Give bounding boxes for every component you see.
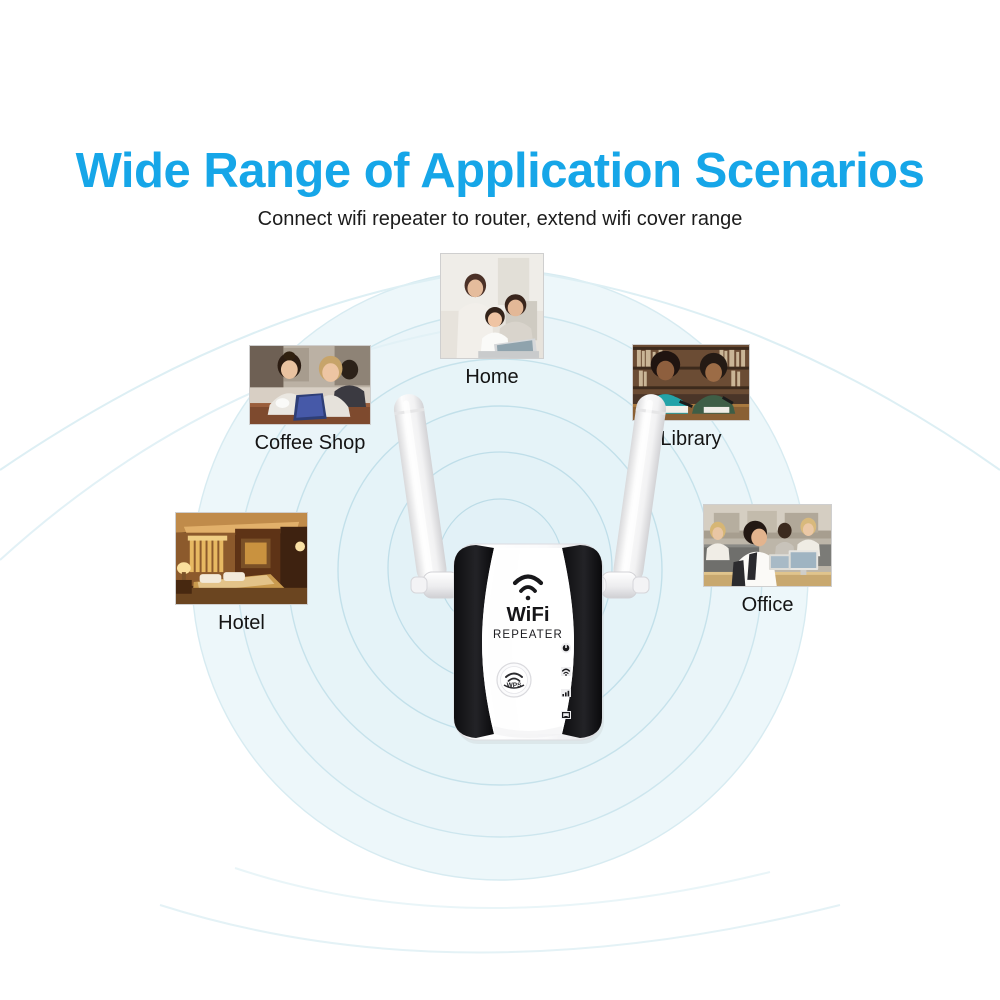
scenario-card-coffee-shop[interactable]: Coffee Shop xyxy=(249,345,371,455)
device-brand-wifi: WiFi xyxy=(506,603,549,626)
wifi-repeater-device[interactable]: WiFi REPEATER WPS xyxy=(390,380,670,750)
scenario-card-home[interactable]: Home xyxy=(440,253,544,389)
lan-led-icon xyxy=(561,711,571,719)
scenario-card-hotel[interactable]: Hotel xyxy=(175,512,308,635)
application-scenarios-banner: Wide Range of Application Scenarios Conn… xyxy=(0,0,1000,1000)
power-led-icon xyxy=(561,643,571,653)
wifi-led-icon xyxy=(561,667,571,676)
wps-button[interactable]: WPS xyxy=(497,663,531,697)
scenario-label-office: Office xyxy=(703,594,832,617)
scenario-photo-office xyxy=(703,504,832,587)
device-brand-repeater: REPEATER xyxy=(493,629,563,641)
device-body: WiFi REPEATER WPS xyxy=(454,544,604,744)
scenario-photo-home xyxy=(440,253,544,359)
scenario-card-office[interactable]: Office xyxy=(703,504,832,617)
scenario-photo-coffee-shop xyxy=(249,345,371,425)
page-title: Wide Range of Application Scenarios xyxy=(0,143,1000,199)
signal-led-icon xyxy=(561,689,571,697)
scenario-label-hotel: Hotel xyxy=(175,612,308,635)
page-subtitle: Connect wifi repeater to router, extend … xyxy=(0,208,1000,231)
scenario-label-coffee-shop: Coffee Shop xyxy=(219,432,401,455)
scenario-photo-hotel xyxy=(175,512,308,605)
